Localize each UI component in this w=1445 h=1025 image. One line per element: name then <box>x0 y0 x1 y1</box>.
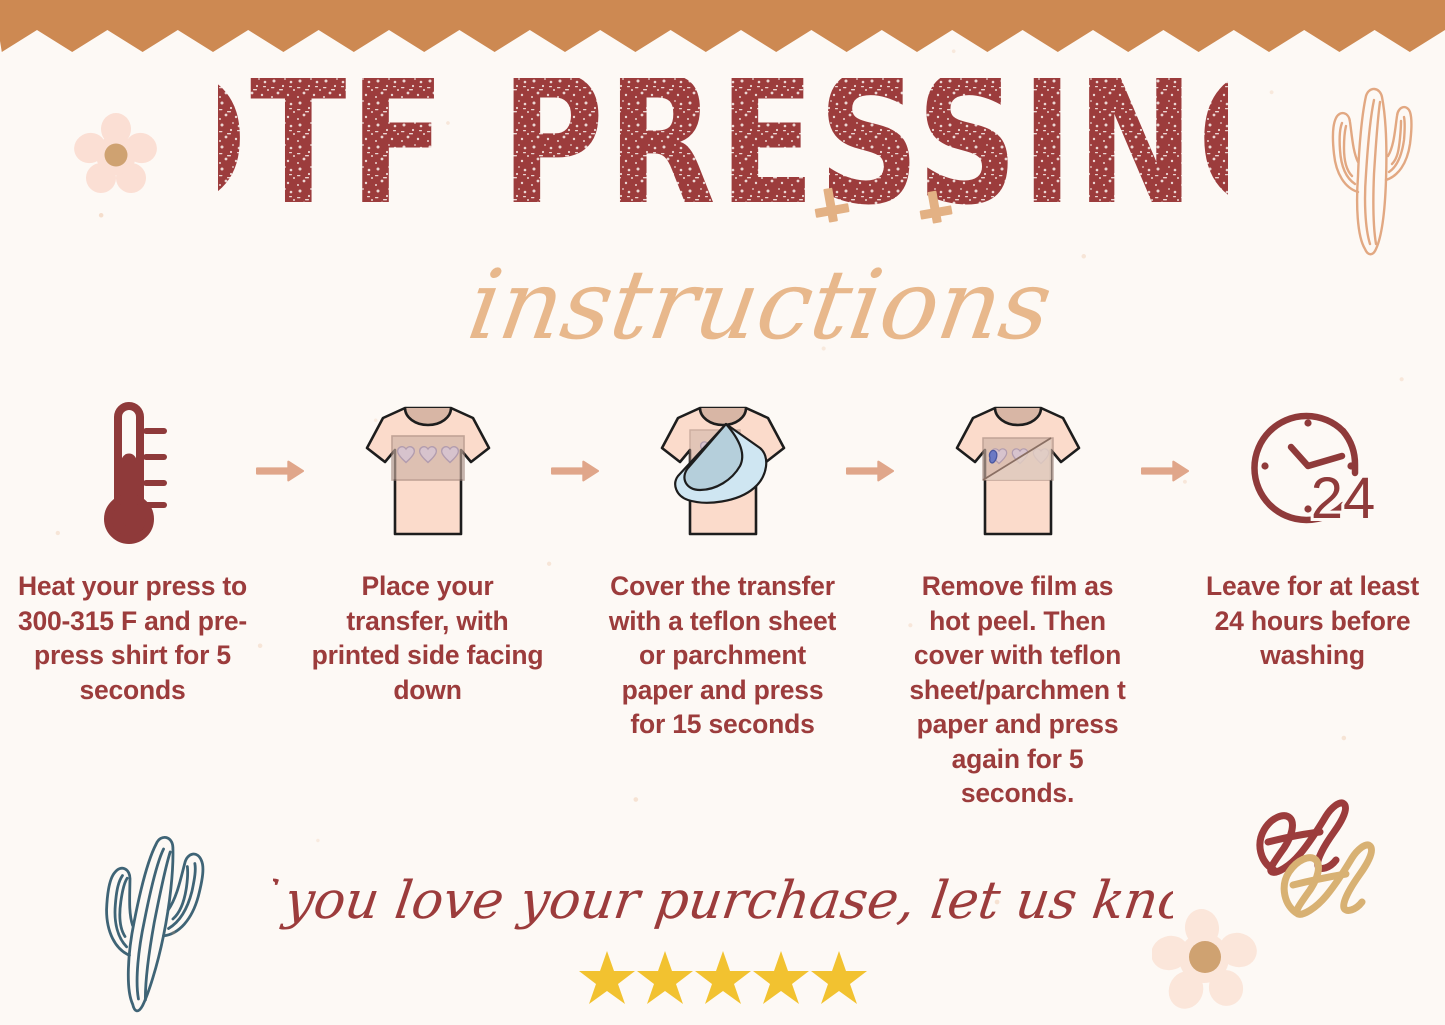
step-3-caption: Cover the transfer with a teflon sheet o… <box>605 569 841 742</box>
step-2-caption: Place your transfer, with printed side f… <box>310 569 546 707</box>
tshirt-with-transfer-icon <box>353 396 503 546</box>
arrow-1-box <box>256 388 304 553</box>
page-subtitle-wrapper: instructions <box>0 250 1445 375</box>
star-rating <box>0 947 1445 1011</box>
arrow-4-box <box>1141 388 1189 553</box>
arrow-right-icon-4 <box>1141 450 1189 492</box>
footer: if you love your purchase, let us know! <box>0 862 1445 1011</box>
arrow-right-icon-2 <box>551 450 599 492</box>
tshirt-covered-with-sheet-icon <box>648 396 798 546</box>
arrow-3-box <box>846 388 894 553</box>
step-3: Cover the transfer with a teflon sheet o… <box>599 388 846 742</box>
clock-24-label: 24 <box>1310 466 1375 531</box>
step-4: Remove film as hot peel. Then cover with… <box>894 388 1141 811</box>
step-2-icon-box <box>353 388 503 553</box>
page-title-distressed: DTF PRESSING <box>218 78 1228 238</box>
step-5-icon-box: 24 <box>1243 388 1383 553</box>
step-3-icon-box <box>648 388 798 553</box>
step-4-icon-box <box>943 388 1093 553</box>
step-5: 24 Leave for at least 24 hours before wa… <box>1189 388 1436 673</box>
step-1-caption: Heat your press to 300-315 F and pre-pre… <box>15 569 251 707</box>
clock-24-icon: 24 <box>1243 403 1383 538</box>
step-2: Place your transfer, with printed side f… <box>304 388 551 707</box>
arrow-right-icon-3 <box>846 450 894 492</box>
thermometer-icon <box>78 391 188 551</box>
page-subtitle-script: instructions <box>373 250 1073 370</box>
footer-message-script: if you love your purchase, let us know! <box>273 862 1173 940</box>
step-4-caption: Remove film as hot peel. Then cover with… <box>900 569 1136 811</box>
svg-text:instructions: instructions <box>461 250 1059 361</box>
top-zigzag-band <box>0 0 1445 52</box>
step-1: Heat your press to 300-315 F and pre-pre… <box>9 388 256 707</box>
five-stars-icon <box>578 947 868 1007</box>
svg-text:if you love your purchase, let: if you love your purchase, let us know! <box>273 871 1173 931</box>
step-5-caption: Leave for at least 24 hours before washi… <box>1195 569 1431 673</box>
tshirt-peel-film-icon <box>943 396 1093 546</box>
steps-row: Heat your press to 300-315 F and pre-pre… <box>0 388 1445 828</box>
arrow-right-icon-1 <box>256 450 304 492</box>
arrow-2-box <box>551 388 599 553</box>
page-title-wrapper: DTF PRESSING <box>0 78 1445 238</box>
step-1-icon-box <box>78 388 188 553</box>
dtf-pressing-instructions-page: DTF PRESSING instructions <box>0 0 1445 1025</box>
